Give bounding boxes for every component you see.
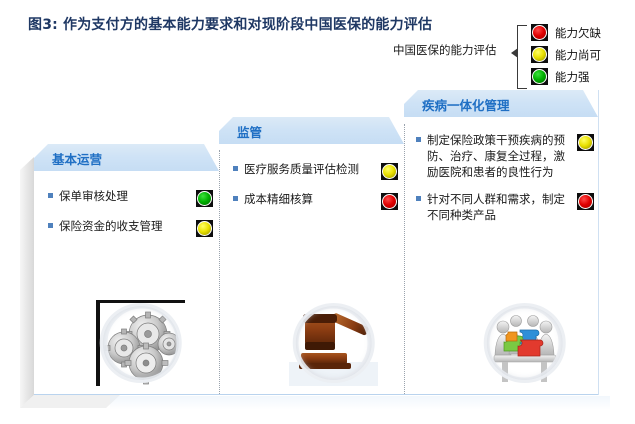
panel-divider [404, 124, 405, 394]
panel-bullet-list: 医疗服务质量评估检测 成本精细核算 [233, 151, 398, 221]
list-item: 医疗服务质量评估检测 [233, 161, 398, 180]
base-reflection [110, 396, 610, 410]
bullet-text: 成本精细核算 [244, 191, 375, 207]
panel-title: 基本运营 [52, 149, 102, 168]
list-item: 成本精细核算 [233, 191, 398, 210]
bullet-marker-icon [48, 223, 53, 228]
bullet-marker-icon [233, 166, 238, 171]
panel-divider [219, 150, 220, 394]
panel-header: 疾病一体化管理 [404, 90, 598, 117]
bullet-marker-icon [48, 193, 53, 198]
bullet-text: 针对不同人群和需求，制定不同种类产品 [427, 191, 571, 223]
status-light-red-icon [577, 193, 594, 210]
bullet-text: 医疗服务质量评估检测 [244, 161, 375, 177]
list-item: 保单审核处理 [48, 188, 213, 207]
image-gears [96, 300, 185, 386]
header-bevel-icon [219, 117, 233, 131]
list-item: 保险资金的收支管理 [48, 218, 213, 237]
panel-title: 疾病一体化管理 [422, 95, 510, 114]
image-gavel [289, 300, 378, 386]
base-line [34, 394, 598, 395]
header-bevel-icon [404, 90, 418, 104]
bullet-marker-icon [233, 196, 238, 201]
diagram-canvas: 图3: 作为支付方的基本能力要求和对现阶段中国医保的能力评估 中国医保的能力评估… [0, 0, 635, 424]
panel-header: 基本运营 [34, 144, 219, 171]
bullet-text: 保险资金的收支管理 [59, 218, 190, 234]
status-light-yellow-icon [196, 220, 213, 237]
header-bevel-right-icon [583, 90, 598, 117]
panel-header: 监管 [219, 117, 404, 144]
teamwork-puzzle-icon [480, 300, 569, 386]
bullet-text: 制定保险政策干预疾病的预防、治疗、康复全过程，激励医院和患者的良性行为 [427, 132, 571, 180]
bullet-marker-icon [416, 196, 421, 201]
gavel-icon [289, 300, 378, 386]
header-bevel-icon [34, 144, 48, 158]
header-bevel-right-icon [204, 144, 219, 171]
status-light-green-icon [196, 190, 213, 207]
panel-bullet-list: 制定保险政策干预疾病的预防、治疗、康复全过程，激励医院和患者的良性行为 针对不同… [416, 124, 594, 234]
panel-bullet-list: 保单审核处理 保险资金的收支管理 [48, 178, 213, 248]
panel-title: 监管 [237, 122, 262, 141]
status-light-red-icon [381, 193, 398, 210]
status-light-yellow-icon [381, 163, 398, 180]
bullet-text: 保单审核处理 [59, 188, 190, 204]
status-light-yellow-icon [577, 134, 594, 151]
gears-icon [96, 300, 185, 386]
list-item: 针对不同人群和需求，制定不同种类产品 [416, 191, 594, 223]
bullet-marker-icon [416, 137, 421, 142]
image-teamwork-puzzle [480, 300, 569, 386]
header-bevel-right-icon [389, 117, 404, 144]
list-item: 制定保险政策干预疾病的预防、治疗、康复全过程，激励医院和患者的良性行为 [416, 132, 594, 180]
